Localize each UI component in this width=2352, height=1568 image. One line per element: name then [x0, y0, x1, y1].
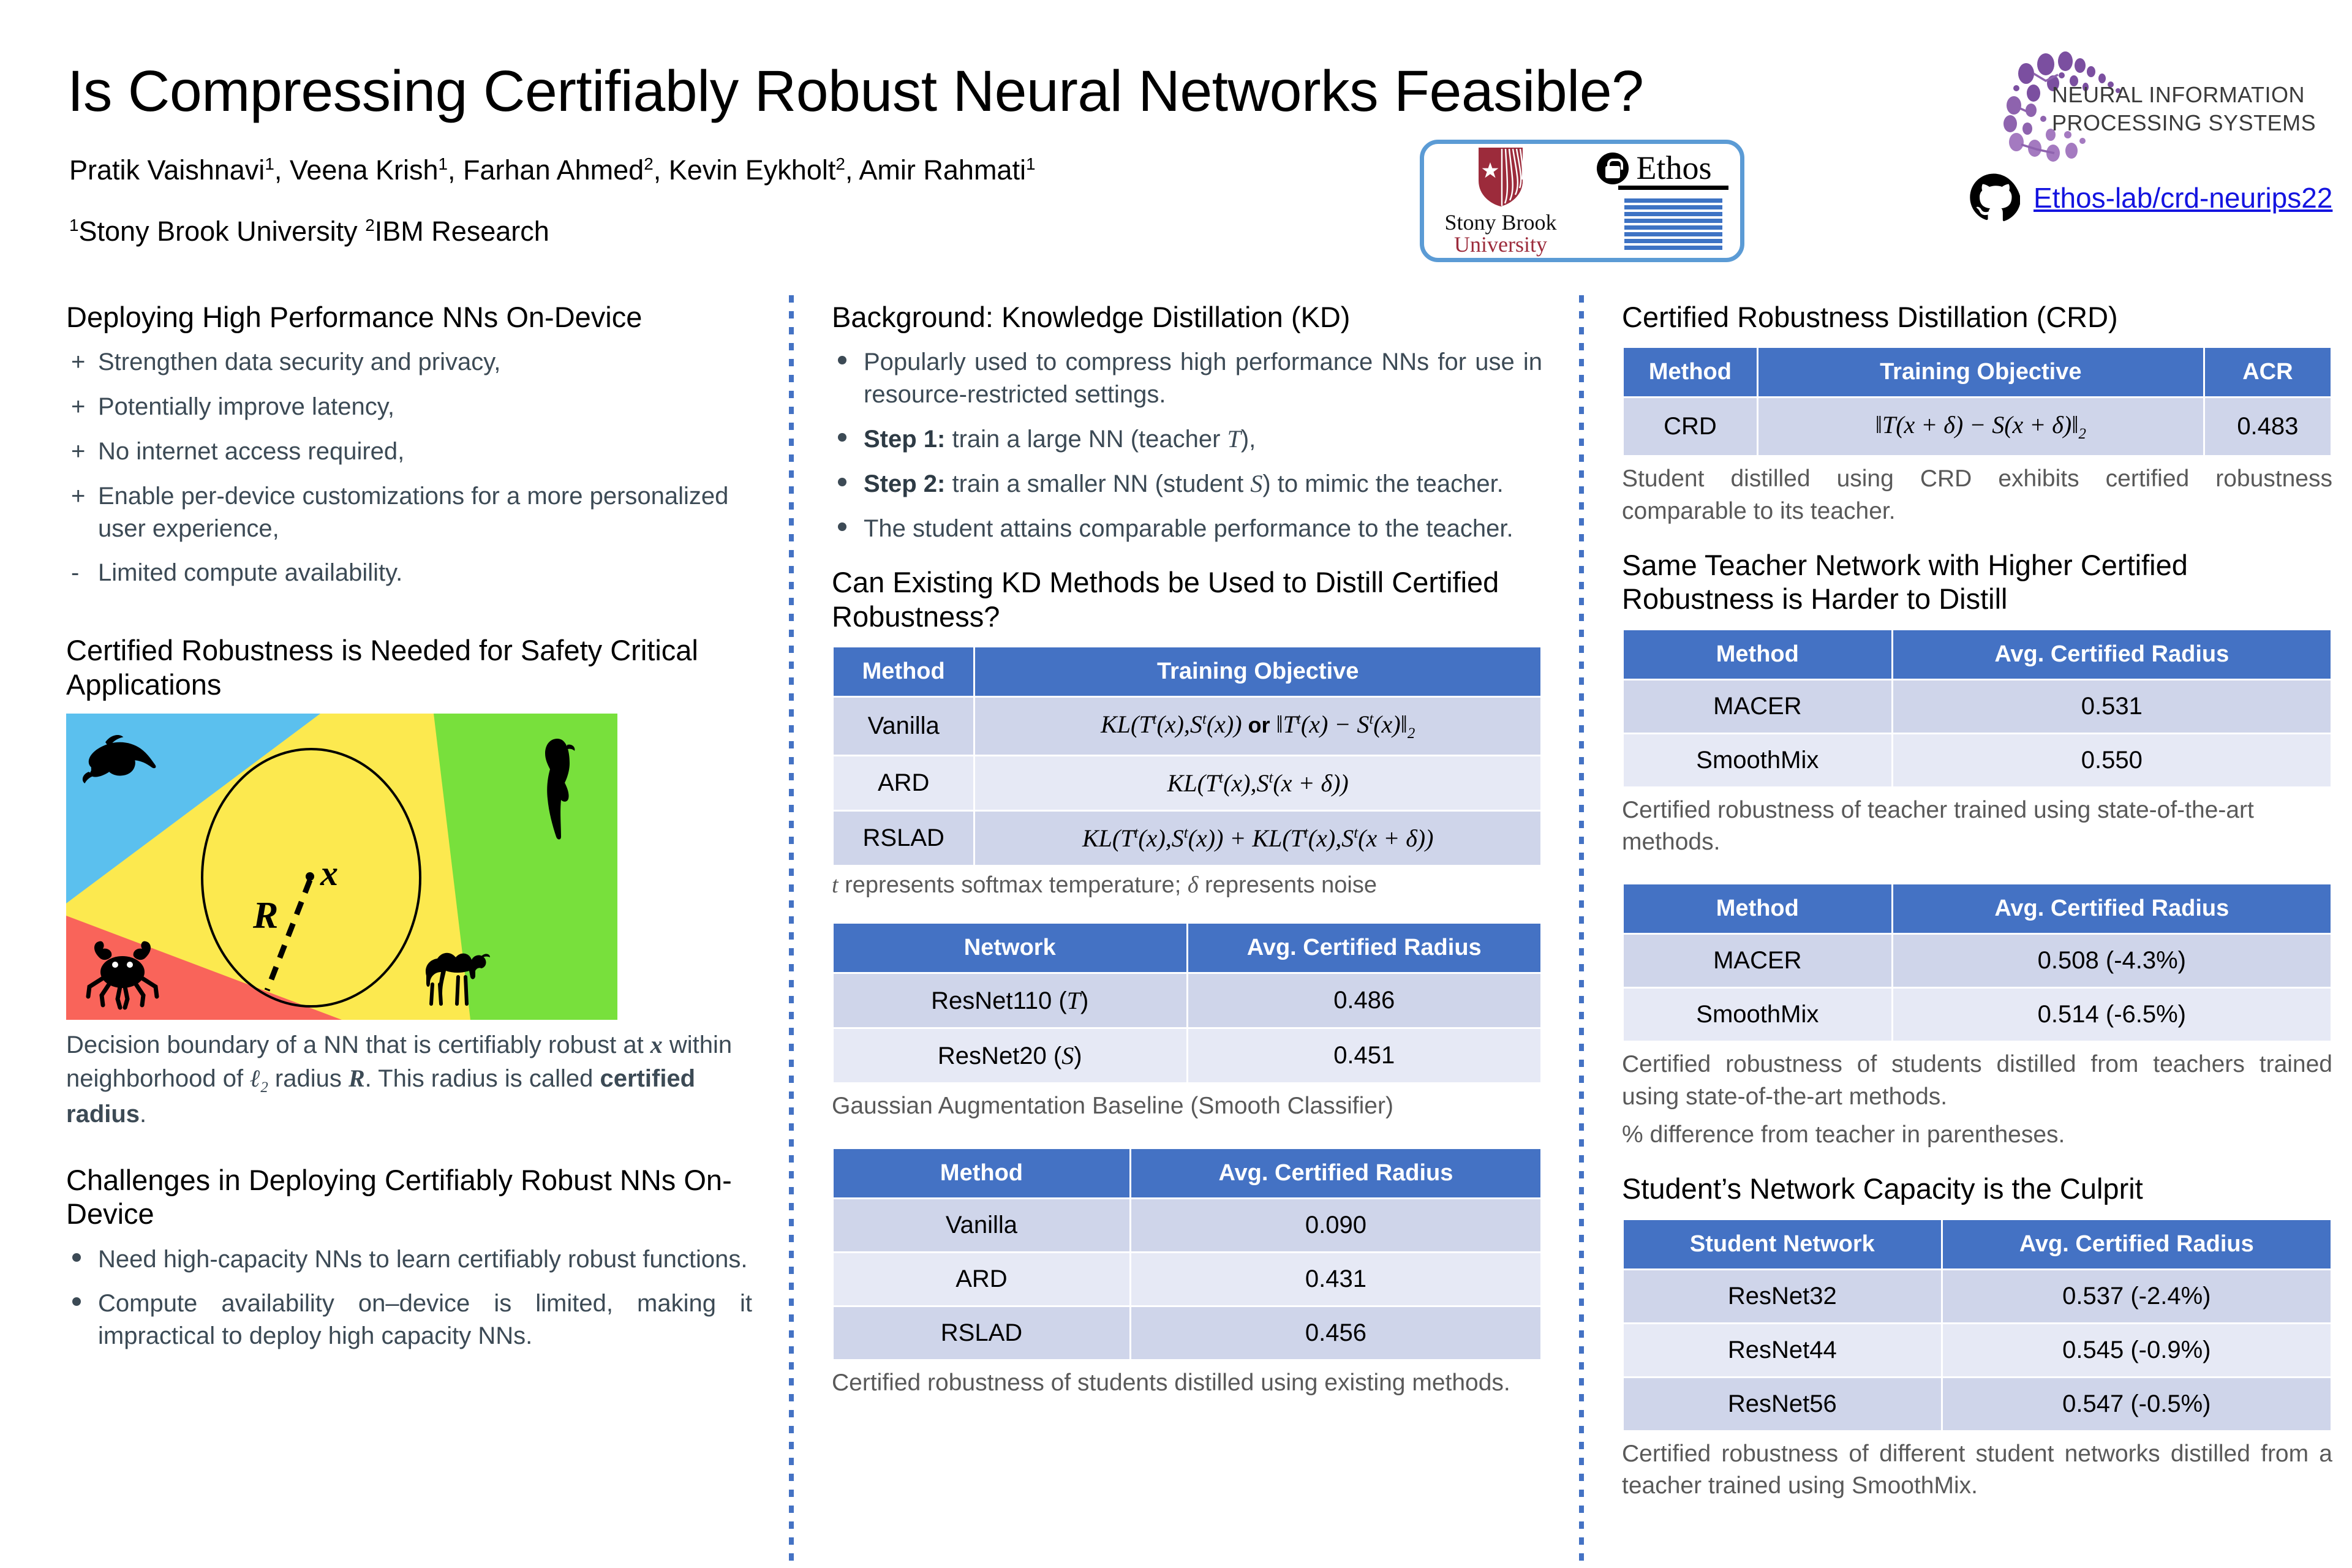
cell-value: 0.486: [1187, 973, 1542, 1028]
list-item: +No internet access required,: [66, 435, 752, 468]
author-affil-marker: 1: [439, 154, 448, 173]
list-item: Need high-capacity NNs to learn certifia…: [66, 1243, 752, 1276]
cell-method: ARD: [833, 756, 974, 811]
col-header-network: Network: [833, 923, 1188, 973]
bullet-dot-icon: [72, 1297, 81, 1306]
bullet-marker: +: [71, 391, 85, 423]
bullet-dot-icon: [72, 1253, 81, 1262]
cell-value: 0.545 (-0.9%): [1942, 1323, 2331, 1377]
table-row: RSLAD KL(Tt(x),St(x)) + KL(Tt(x),St(x + …: [833, 811, 1542, 866]
cell-objective: KL(Tt(x),St(x + δ)): [974, 756, 1542, 811]
student-robustness-table: Method Avg. Certified Radius MACER0.508 …: [1622, 883, 2332, 1042]
math-ell2: ℓ2: [250, 1065, 268, 1092]
stony-brook-line1: Stony Brook: [1444, 211, 1556, 233]
ethos-underline: [1618, 186, 1728, 190]
table-header-row: Network Avg. Certified Radius: [833, 923, 1542, 973]
cell-network: ResNet110 (T): [833, 973, 1188, 1028]
list-item: Step 2: train a smaller NN (student S) t…: [832, 468, 1542, 500]
list-item-label: Potentially improve latency,: [98, 393, 394, 420]
neurips-text: NEURAL INFORMATION PROCESSING SYSTEMS: [2052, 81, 2316, 137]
kd-objectives-table: Method Training Objective Vanilla KL(Tt(…: [832, 646, 1542, 867]
teacher-robustness-table: Method Avg. Certified Radius MACER0.531 …: [1622, 628, 2332, 788]
col-header-method: Method: [1623, 629, 1893, 679]
cell-objective: KL(Tt(x),St(x)) or ‖Tt(x) − St(x)‖2: [974, 697, 1542, 756]
cell-network: ResNet20 (S): [833, 1028, 1188, 1084]
cell-value: 0.090: [1130, 1198, 1541, 1252]
table-row: MACER0.508 (-4.3%): [1623, 934, 2332, 988]
table-row: ARD KL(Tt(x),St(x + δ)): [833, 756, 1542, 811]
author-affil-marker: 2: [835, 154, 845, 173]
table-header-row: Method Training Objective ACR: [1623, 347, 2332, 398]
network-baseline-caption: Gaussian Augmentation Baseline (Smooth C…: [832, 1090, 1542, 1122]
list-item-label: Need high-capacity NNs to learn certifia…: [98, 1246, 748, 1273]
github-repo-link-group[interactable]: Ethos-lab/crd-neurips22: [1967, 171, 2332, 224]
list-item: +Strengthen data security and privacy,: [66, 346, 752, 379]
cell-acr: 0.483: [2204, 398, 2331, 456]
right-section-2-heading: Same Teacher Network with Higher Certifi…: [1622, 548, 2332, 616]
kd-table-note: t represents softmax temperature; δ repr…: [832, 872, 1542, 899]
list-item-label: Strengthen data security and privacy,: [98, 349, 500, 375]
math-R: R: [349, 1065, 365, 1092]
mid-section-2-heading: Can Existing KD Methods be Used to Disti…: [832, 565, 1542, 633]
left-section-3-heading: Challenges in Deploying Certifiably Robu…: [66, 1163, 752, 1231]
col-header-student-network: Student Network: [1623, 1219, 1942, 1269]
bullet-marker: +: [71, 435, 85, 468]
cell-objective: KL(Tt(x),St(x)) + KL(Tt(x),St(x + δ)): [974, 811, 1542, 866]
left-column: Deploying High Performance NNs On-Device…: [66, 300, 752, 1352]
table-header-row: Method Avg. Certified Radius: [1623, 884, 2332, 934]
deploy-benefits-list: +Strengthen data security and privacy,+P…: [66, 346, 752, 589]
ibm-logo-icon: [1624, 198, 1722, 250]
cell-method: Vanilla: [833, 1198, 1131, 1252]
table-row: RSLAD0.456: [833, 1306, 1542, 1360]
cell-method: SmoothMix: [1623, 988, 1893, 1042]
neurips-line2: PROCESSING SYSTEMS: [2052, 109, 2316, 137]
ethos-ibm-logo: Ethos: [1581, 153, 1728, 250]
affil-marker: 1: [69, 216, 79, 235]
mid-section-1-heading: Background: Knowledge Distillation (KD): [832, 300, 1542, 334]
page-title: Is Compressing Certifiably Robust Neural…: [67, 58, 1643, 125]
author-list: Pratik Vaishnavi1, Veena Krish1, Farhan …: [69, 154, 1035, 186]
challenges-list: Need high-capacity NNs to learn certifia…: [66, 1243, 752, 1352]
bullet-dot-icon: [838, 478, 846, 486]
list-item-label: No internet access required,: [98, 438, 404, 465]
cell-method: SmoothMix: [1623, 733, 1893, 787]
col-header-acr: Avg. Certified Radius: [1892, 629, 2331, 679]
affil-marker: 2: [365, 216, 375, 235]
cell-method: Vanilla: [833, 697, 974, 756]
right-section-3-heading: Student’s Network Capacity is the Culpri…: [1622, 1172, 2332, 1205]
bullet-marker: -: [71, 557, 79, 589]
crd-caption: Student distilled using CRD exhibits cer…: [1622, 463, 2332, 527]
kd-background-list: Popularly used to compress high performa…: [832, 346, 1542, 545]
author-affil-marker: 1: [265, 154, 274, 173]
cell-value: 0.537 (-2.4%): [1942, 1269, 2331, 1323]
table-header-row: Method Training Objective: [833, 647, 1542, 697]
cell-network: ResNet32: [1623, 1269, 1942, 1323]
figure-caption: Decision boundary of a NN that is certif…: [66, 1028, 752, 1131]
cell-value: 0.451: [1187, 1028, 1542, 1084]
sponsor-logo-box: Stony Brook University Ethos: [1420, 140, 1744, 262]
decision-boundary-svg: x R: [66, 714, 617, 1020]
table-row: Vanilla0.090: [833, 1198, 1542, 1252]
column-divider-2: [1579, 295, 1584, 1566]
table-row: Vanilla KL(Tt(x),St(x)) or ‖Tt(x) − St(x…: [833, 697, 1542, 756]
existing-methods-table: Method Avg. Certified Radius Vanilla0.09…: [832, 1147, 1542, 1361]
student-robustness-caption-2: % difference from teacher in parentheses…: [1622, 1119, 2332, 1151]
certified-radius-term: certified radius: [66, 1065, 695, 1128]
poster-header: Is Compressing Certifiably Robust Neural…: [0, 0, 2352, 279]
table-row: ResNet560.547 (-0.5%): [1623, 1377, 2332, 1431]
table-header-row: Method Avg. Certified Radius: [1623, 629, 2332, 679]
list-item-label: Enable per-device customizations for a m…: [98, 483, 728, 542]
col-header-acr: ACR: [2204, 347, 2331, 398]
bullet-dot-icon: [838, 356, 846, 364]
student-robustness-caption-1: Certified robustness of students distill…: [1622, 1049, 2332, 1113]
cell-value: 0.550: [1892, 733, 2331, 787]
column-divider-1: [789, 295, 794, 1566]
middle-column: Background: Knowledge Distillation (KD) …: [832, 300, 1542, 1399]
bullet-marker: +: [71, 480, 85, 513]
author-affil-marker: 1: [1026, 154, 1036, 173]
col-header-method: Method: [833, 647, 974, 697]
cell-objective: ‖T(x + δ) − S(x + δ)‖2: [1757, 398, 2204, 456]
col-header-method: Method: [833, 1148, 1131, 1198]
table-header-row: Method Avg. Certified Radius: [833, 1148, 1542, 1198]
cell-network: ResNet44: [1623, 1323, 1942, 1377]
col-header-acr: Avg. Certified Radius: [1130, 1148, 1541, 1198]
student-capacity-caption: Certified robustness of different studen…: [1622, 1438, 2332, 1502]
cell-value: 0.531: [1892, 679, 2331, 733]
list-item: +Potentially improve latency,: [66, 391, 752, 423]
table-row: ResNet440.545 (-0.9%): [1623, 1323, 2332, 1377]
teacher-robustness-caption: Certified robustness of teacher trained …: [1622, 794, 2332, 859]
bullet-marker: +: [71, 346, 85, 379]
label-R: R: [252, 895, 278, 937]
author-affil-marker: 2: [644, 154, 654, 173]
list-item: Popularly used to compress high performa…: [832, 346, 1542, 411]
right-section-1-heading: Certified Robustness Distillation (CRD): [1622, 300, 2332, 334]
cell-method: ARD: [833, 1252, 1131, 1306]
math-x: x: [650, 1031, 663, 1058]
bullet-dot-icon: [838, 522, 846, 531]
poster-root: Is Compressing Certifiably Robust Neural…: [0, 0, 2352, 1568]
github-icon: [1967, 171, 2020, 224]
col-header-training-objective: Training Objective: [1757, 347, 2204, 398]
table-row: ResNet20 (S) 0.451: [833, 1028, 1542, 1084]
lock-icon: [1597, 153, 1629, 184]
crd-table: Method Training Objective ACR CRD ‖T(x +…: [1622, 346, 2332, 457]
table-row: MACER0.531: [1623, 679, 2332, 733]
left-section-2-heading: Certified Robustness is Needed for Safet…: [66, 633, 752, 701]
right-column: Certified Robustness Distillation (CRD) …: [1622, 300, 2332, 1502]
list-item: -Limited compute availability.: [66, 557, 752, 589]
cell-value: 0.514 (-6.5%): [1892, 988, 2331, 1042]
col-header-method: Method: [1623, 884, 1893, 934]
bullet-dot-icon: [838, 433, 846, 442]
col-header-method: Method: [1623, 347, 1758, 398]
list-item-label: Compute availability on–device is limite…: [98, 1290, 752, 1349]
cell-method: RSLAD: [833, 1306, 1131, 1360]
existing-methods-caption: Certified robustness of students distill…: [832, 1367, 1542, 1399]
student-capacity-table: Student Network Avg. Certified Radius Re…: [1622, 1218, 2332, 1432]
list-item-label: train a large NN (teacher T),: [945, 426, 1256, 453]
cell-method: MACER: [1623, 679, 1893, 733]
affiliation-list: 1Stony Brook University 2IBM Research: [69, 216, 549, 247]
list-item: Step 1: train a large NN (teacher T),: [832, 423, 1542, 456]
list-item: Compute availability on–device is limite…: [66, 1287, 752, 1352]
cell-network: ResNet56: [1623, 1377, 1942, 1431]
table-row: ResNet320.537 (-2.4%): [1623, 1269, 2332, 1323]
cell-value: 0.431: [1130, 1252, 1541, 1306]
decision-boundary-figure: x R: [66, 714, 617, 1020]
cell-value: 0.547 (-0.5%): [1942, 1377, 2331, 1431]
cell-method: RSLAD: [833, 811, 974, 866]
github-repo-link[interactable]: Ethos-lab/crd-neurips22: [2034, 181, 2332, 214]
table-row: CRD ‖T(x + δ) − S(x + δ)‖2 0.483: [1623, 398, 2332, 456]
neurips-logo: NEURAL INFORMATION PROCESSING SYSTEMS: [1960, 37, 2340, 165]
table-row: ResNet110 (T) 0.486: [833, 973, 1542, 1028]
stony-brook-line2: University: [1454, 233, 1547, 257]
ethos-label: Ethos: [1636, 153, 1711, 184]
list-item-label: Popularly used to compress high performa…: [864, 349, 1542, 408]
list-item-lead: Step 2:: [864, 470, 945, 497]
left-section-1-heading: Deploying High Performance NNs On-Device: [66, 300, 752, 334]
col-header-acr: Avg. Certified Radius: [1942, 1219, 2331, 1269]
cell-value: 0.508 (-4.3%): [1892, 934, 2331, 988]
list-item: The student attains comparable performan…: [832, 513, 1542, 545]
list-item-lead: Step 1:: [864, 426, 945, 453]
stony-brook-shield-icon: [1475, 145, 1526, 209]
network-baseline-table: Network Avg. Certified Radius ResNet110 …: [832, 922, 1542, 1084]
list-item-label: train a smaller NN (student S) to mimic …: [945, 470, 1503, 497]
cell-method: CRD: [1623, 398, 1758, 456]
table-row: ARD0.431: [833, 1252, 1542, 1306]
col-header-acr: Avg. Certified Radius: [1187, 923, 1542, 973]
col-header-acr: Avg. Certified Radius: [1892, 884, 2331, 934]
col-header-training-objective: Training Objective: [974, 647, 1542, 697]
cell-method: MACER: [1623, 934, 1893, 988]
list-item-label: Limited compute availability.: [98, 559, 402, 586]
table-row: SmoothMix0.514 (-6.5%): [1623, 988, 2332, 1042]
label-x: x: [320, 853, 338, 893]
list-item-label: The student attains comparable performan…: [864, 515, 1513, 542]
table-header-row: Student Network Avg. Certified Radius: [1623, 1219, 2332, 1269]
stony-brook-logo: Stony Brook University: [1436, 145, 1565, 257]
neurips-line1: NEURAL INFORMATION: [2052, 81, 2316, 109]
cell-value: 0.456: [1130, 1306, 1541, 1360]
list-item: +Enable per-device customizations for a …: [66, 480, 752, 545]
table-row: SmoothMix0.550: [1623, 733, 2332, 787]
